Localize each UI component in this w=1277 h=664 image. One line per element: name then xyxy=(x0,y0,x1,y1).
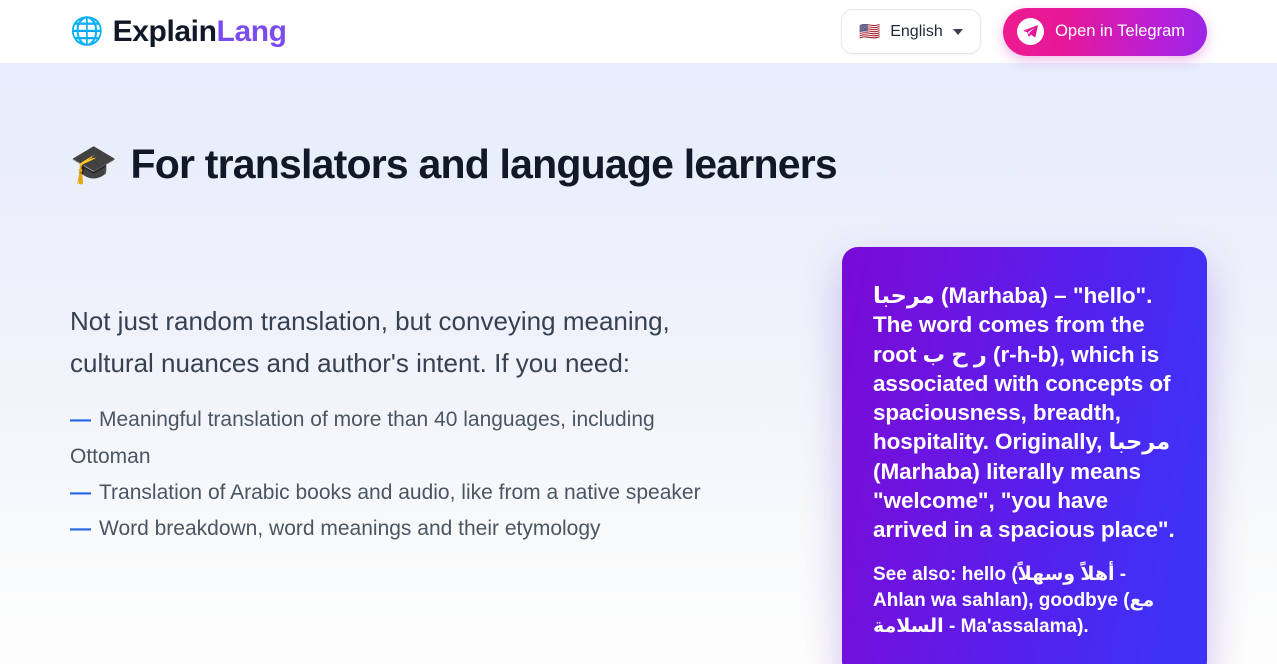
telegram-paper-plane-icon xyxy=(1017,18,1044,45)
hero-content: Not just random translation, but conveyi… xyxy=(70,238,1207,664)
header-actions: 🇺🇸 English Open in Telegram xyxy=(841,8,1207,56)
list-item: —Meaningful translation of more than 40 … xyxy=(70,402,735,475)
list-item-label: Word breakdown, word meanings and their … xyxy=(99,517,601,540)
open-in-telegram-label: Open in Telegram xyxy=(1055,22,1185,41)
page-title-text: For translators and language learners xyxy=(131,141,837,188)
word-explanation-see-also: See also: hello (أهلاً وسهلاً - Ahlan wa… xyxy=(873,562,1177,639)
globe-with-meridians-icon: 🌐 xyxy=(70,18,104,45)
word-explanation-body: مرحبا (Marhaba) – "hello". The word come… xyxy=(873,281,1177,544)
bullet-dash-icon: — xyxy=(70,481,91,504)
page-title: 🎓 For translators and language learners xyxy=(70,63,1207,188)
brand-name: ExplainLang xyxy=(113,17,287,47)
language-selector-value: English xyxy=(890,23,942,41)
list-item-label: Translation of Arabic books and audio, l… xyxy=(99,481,701,504)
feature-list: —Meaningful translation of more than 40 … xyxy=(70,402,770,547)
list-item: —Translation of Arabic books and audio, … xyxy=(70,475,735,511)
bullet-dash-icon: — xyxy=(70,408,91,431)
list-item-label: Meaningful translation of more than 40 l… xyxy=(70,408,655,467)
hero-card-column: مرحبا (Marhaba) – "hello". The word come… xyxy=(842,247,1207,664)
word-explanation-card: مرحبا (Marhaba) – "hello". The word come… xyxy=(842,247,1207,664)
brand-name-accent: Lang xyxy=(217,15,287,48)
brand-logo[interactable]: 🌐 ExplainLang xyxy=(70,17,287,47)
hero-copy-column: Not just random translation, but conveyi… xyxy=(70,238,770,548)
bullet-dash-icon: — xyxy=(70,517,91,540)
us-flag-icon: 🇺🇸 xyxy=(859,23,880,40)
hero-lead-paragraph: Not just random translation, but conveyi… xyxy=(70,300,750,384)
chevron-down-icon xyxy=(953,29,963,35)
language-selector[interactable]: 🇺🇸 English xyxy=(841,9,981,54)
hero-section: 🎓 For translators and language learners … xyxy=(0,63,1277,664)
brand-name-primary: Explain xyxy=(113,15,217,48)
graduation-cap-icon: 🎓 xyxy=(70,146,117,184)
open-in-telegram-button[interactable]: Open in Telegram xyxy=(1003,8,1207,56)
list-item: —Word breakdown, word meanings and their… xyxy=(70,511,735,547)
site-header: 🌐 ExplainLang 🇺🇸 English Open in Telegra… xyxy=(0,0,1277,63)
